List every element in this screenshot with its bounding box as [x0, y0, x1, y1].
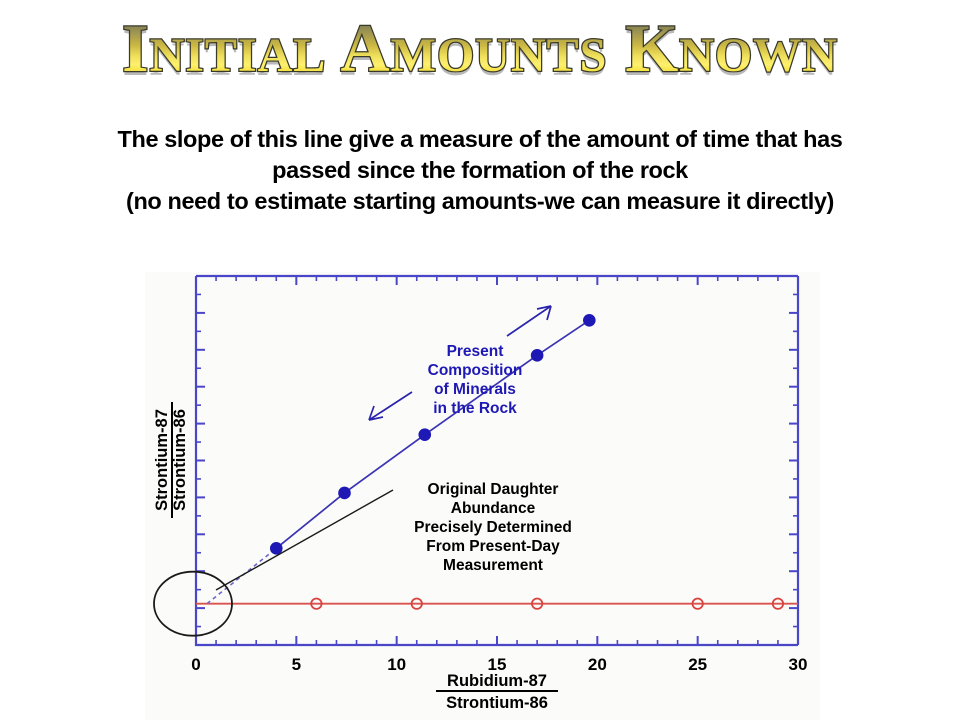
present-composition-line: in the Rock — [433, 400, 517, 417]
body-line-1: The slope of this line give a measure of… — [30, 124, 930, 155]
isochron-data-point — [583, 314, 596, 327]
y-axis-ticks — [196, 276, 205, 645]
original-daughter-line: From Present-Day — [426, 538, 560, 555]
isochron-data-point — [531, 349, 544, 362]
present-composition-annotation: PresentCompositionof Mineralsin the Rock — [428, 343, 523, 417]
original-daughter-line: Abundance — [451, 500, 536, 517]
y-axis-title-numerator: Strontium-87 — [153, 409, 171, 511]
x-axis-ticks — [196, 636, 798, 645]
original-daughter-line: Original Daughter — [428, 481, 559, 498]
right-axis-ticks — [789, 276, 798, 645]
y-axis-title-denominator: Strontium-86 — [171, 409, 189, 511]
x-tick-label: 20 — [588, 655, 607, 674]
y-axis-title: Strontium-87 Strontium-86 — [153, 402, 189, 518]
x-tick-label: 25 — [688, 655, 707, 674]
arrow-down-left-shaft — [369, 392, 412, 420]
original-daughter-leader-line — [216, 490, 393, 590]
arrow-up-right-shaft — [507, 306, 551, 336]
initial-ratio-series — [196, 598, 798, 608]
x-tick-label: 0 — [191, 655, 200, 674]
x-axis-title-denominator: Strontium-86 — [446, 694, 548, 712]
isochron-chart-svg: 051015202530 PresentCompositionof Minera… — [145, 272, 820, 720]
x-tick-label: 10 — [387, 655, 406, 674]
x-tick-label: 30 — [789, 655, 808, 674]
original-daughter-annotation: Original DaughterAbundancePrecisely Dete… — [414, 481, 572, 574]
original-daughter-line: Precisely Determined — [414, 519, 572, 536]
page-title: Initial Amounts Known — [0, 14, 960, 82]
isochron-data-point — [418, 428, 431, 441]
isochron-chart-panel: 051015202530 PresentCompositionof Minera… — [145, 272, 820, 720]
x-axis-title-numerator: Rubidium-87 — [447, 672, 547, 690]
body-line-3: (no need to estimate starting amounts-we… — [30, 186, 930, 217]
present-composition-line: of Minerals — [434, 381, 516, 398]
chart-axes — [196, 276, 798, 645]
x-axis-title: Rubidium-87 Strontium-86 — [436, 672, 558, 712]
present-composition-line: Composition — [428, 362, 523, 379]
top-axis-ticks — [196, 276, 798, 285]
x-tick-label: 5 — [292, 655, 301, 674]
body-line-2: passed since the formation of the rock — [30, 155, 930, 186]
original-daughter-line: Measurement — [443, 557, 543, 574]
present-composition-line: Present — [447, 343, 504, 360]
isochron-data-point — [338, 487, 351, 500]
slide-body-text: The slope of this line give a measure of… — [30, 124, 930, 217]
